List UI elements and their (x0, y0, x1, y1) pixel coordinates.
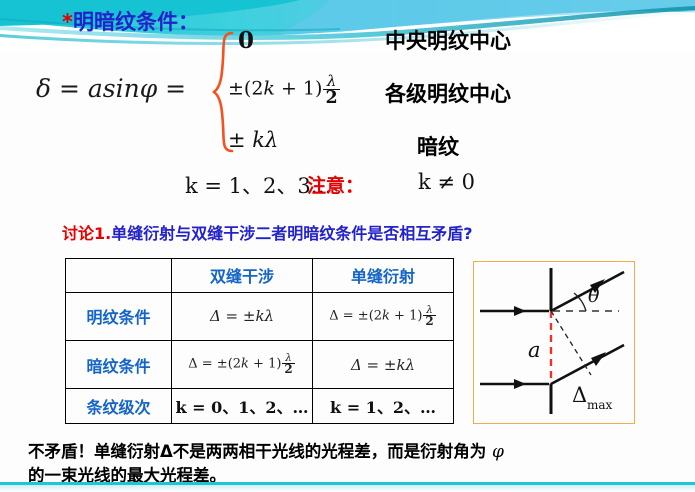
table-header-row: 双缝干涉 单缝衍射 (66, 259, 454, 293)
table-corner-cell (66, 259, 172, 293)
lambda-over-two-fraction: λ2 (282, 353, 294, 376)
title-text: 明暗纹条件： (73, 10, 199, 34)
cell-bright-single-slit: Δ = ±(2k + 1)λ2 (313, 292, 454, 340)
discussion-question: 单缝衍射与双缝干涉二者明暗纹条件是否相互矛盾? (111, 224, 472, 243)
discussion-index: 讨论1. (62, 224, 111, 243)
title-star-marker: * (62, 10, 73, 34)
equation-case-0-formula: 0 (238, 27, 254, 54)
lambda-over-two-fraction: λ2 (423, 305, 435, 328)
equation-case-2-formula: ± kλ (228, 128, 278, 152)
equation-case-1-description: 各级明纹中心 (385, 78, 511, 108)
footer-rule (0, 482, 695, 492)
equation-case-0-description: 中央明纹中心 (385, 25, 511, 55)
cell-dark-double-slit: Δ = ±(2k + 1)λ2 (172, 340, 313, 388)
path-difference-label: Δ (572, 383, 587, 407)
phi-symbol: φ (492, 442, 504, 462)
theta-label: θ (588, 285, 600, 307)
conclusion-text: 不矛盾！单缝衍射Δ不是两两相干光线的光程差，而是衍射角为 φ 的一束光线的最大光… (28, 440, 688, 488)
slit-width-label: a (528, 338, 541, 362)
fraction-denominator: 2 (423, 315, 435, 328)
cell-order-single-slit: k = 1、2、… (313, 389, 454, 424)
table-header-double-slit: 双缝干涉 (172, 259, 313, 293)
fraction-denominator: 2 (282, 363, 294, 376)
fraction-denominator: 2 (323, 89, 339, 107)
cell-bright-double-slit: Δ = ±kλ (172, 292, 313, 340)
equation-left-hand-side: δ = asinφ = (36, 74, 186, 103)
table-header-single-slit: 单缝衍射 (313, 259, 454, 293)
table-row: 明纹条件 Δ = ±kλ Δ = ±(2k + 1)λ2 (66, 292, 454, 340)
slide-canvas: *明暗纹条件： δ = asinφ = 0 ±(2k + 1)λ2 ± kλ 中… (0, 0, 695, 492)
path-difference-subscript: max (587, 398, 613, 412)
comparison-table: 双缝干涉 单缝衍射 明纹条件 Δ = ±kλ Δ = ±(2k + 1)λ2 暗… (65, 258, 454, 424)
fraction-numerator: λ (323, 74, 339, 89)
k-constraint-text: k ≠ 0 (418, 170, 475, 194)
row-label-dark-fringe: 暗纹条件 (66, 340, 172, 388)
row-label-bright-fringe: 明纹条件 (66, 292, 172, 340)
footer-rule-fade (0, 485, 695, 492)
row-label-fringe-order: 条纹级次 (66, 389, 172, 424)
single-slit-diffraction-diagram: θ a Δ max (473, 261, 635, 424)
equation-case-1-formula: ±(2k + 1)λ2 (228, 74, 341, 108)
equation-lhs-text: δ = asinφ = (36, 74, 186, 103)
equation-case-2-description: 暗纹 (417, 131, 459, 161)
conclusion-line-1: 不矛盾！单缝衍射Δ不是两两相干光线的光程差，而是衍射角为 (28, 442, 492, 461)
table-row: 暗纹条件 Δ = ±(2k + 1)λ2 Δ = ±kλ (66, 340, 454, 388)
table-row: 条纹级次 k = 0、1、2、… k = 1、2、… (66, 389, 454, 424)
cell-dark-single-slit: Δ = ±kλ (313, 340, 454, 388)
note-label: 注意： (307, 171, 364, 198)
cell-order-double-slit: k = 0、1、2、… (172, 389, 313, 424)
case-0-value: 0 (238, 27, 254, 54)
page-title: *明暗纹条件： (62, 6, 199, 36)
discussion-line: 讨论1.单缝衍射与双缝干涉二者明暗纹条件是否相互矛盾? (62, 220, 473, 244)
lambda-over-two-fraction: λ2 (323, 74, 339, 108)
